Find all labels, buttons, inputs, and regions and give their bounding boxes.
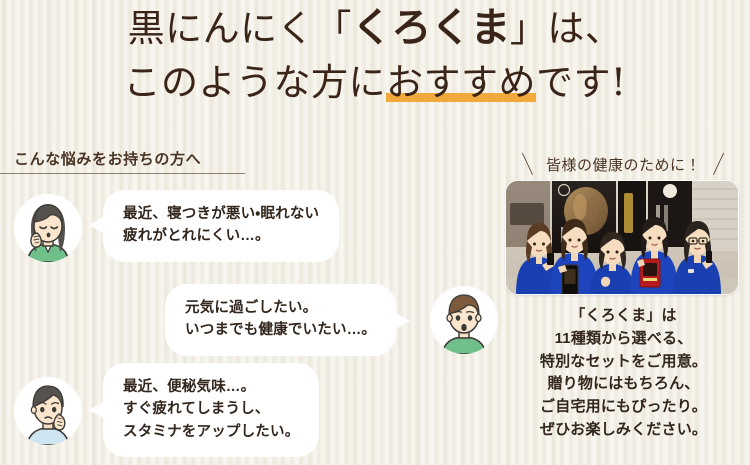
concern-bubble-1-line-1: 最近、寝つきが悪い・眠れない (123, 203, 319, 225)
headline-line-1: 黒にんにく「くろくま」は、 (0, 8, 750, 48)
concern-bubble-3-line-2: すぐ疲れてしまうし、 (123, 398, 299, 420)
headline-line1-suffix: 」は、 (510, 7, 623, 50)
promo-text-line-3: 特別なセットをご用意。 (497, 351, 750, 374)
concerns-section-label: こんな悩みをお持ちの方へ (14, 148, 201, 169)
headline-highlight-osusume: おすすめ (386, 64, 536, 102)
concern-bubble-2-line-2: いつまでも健康でいたい…。 (185, 319, 376, 341)
headline-line2-suffix: です! (536, 61, 626, 104)
section-divider (0, 173, 245, 174)
boy-surprised-avatar (430, 286, 498, 354)
staff-promo-text: 「くろくま」は 11種類から選べる、 特別なセットをご用意。 贈り物にはもちろん… (497, 305, 750, 442)
promo-text-line-5: ご自宅用にもぴったり。 (497, 396, 750, 419)
promo-text-line-6: ぜひお楽しみください。 (497, 419, 750, 442)
headline-line2-prefix: このような方に (124, 61, 387, 104)
promo-text-line-2: 11種類から選べる、 (497, 328, 750, 351)
page-title: 黒にんにく「くろくま」は、 このような方におすすめです! (0, 8, 750, 102)
concern-bubble-2-line-1: 元気に過ごしたい。 (185, 297, 376, 319)
woman-short-hair-worried-avatar (14, 377, 82, 445)
concerns-section: こんな悩みをお持ちの方へ (0, 148, 490, 465)
concern-bubble-3-line-1: 最近、便秘気味…。 (123, 376, 299, 398)
concern-bubble-3: 最近、便秘気味…。 すぐ疲れてしまうし、 スタミナをアップしたい。 (103, 363, 319, 457)
slash-right-icon: ／ (705, 147, 733, 179)
bubble-tail-2 (394, 312, 410, 330)
promo-text-line-1: 「くろくま」は (497, 305, 750, 328)
concern-bubble-2: 元気に過ごしたい。 いつまでも健康でいたい…。 (165, 284, 396, 356)
headline-line1-prefix: 黒にんにく「 (128, 7, 352, 50)
concern-bubble-3-line-3: スタミナをアップしたい。 (123, 421, 299, 443)
staff-promo-heading: ＼皆様の健康のために！／ (497, 150, 750, 177)
woman-long-hair-tired-avatar (14, 194, 82, 262)
bubble-tail-3 (89, 401, 105, 419)
headline-line-2: このような方におすすめです! (0, 64, 750, 102)
staff-promo-section: ＼皆様の健康のために！／ (497, 145, 750, 465)
staff-group-photo (506, 181, 738, 294)
concern-bubble-1: 最近、寝つきが悪い・眠れない 疲れがとれにくい…。 (103, 190, 339, 262)
slash-left-icon: ＼ (514, 147, 542, 179)
concern-bubble-1-line-2: 疲れがとれにくい…。 (123, 225, 319, 247)
promo-text-line-4: 贈り物にはもちろん、 (497, 373, 750, 396)
promo-page: 黒にんにく「くろくま」は、 このような方におすすめです! こんな悩みをお持ちの方… (0, 0, 750, 465)
bubble-tail-1 (89, 216, 105, 234)
headline-brand-name: くろくま (352, 4, 510, 51)
staff-promo-heading-text: 皆様の健康のために！ (546, 156, 701, 174)
